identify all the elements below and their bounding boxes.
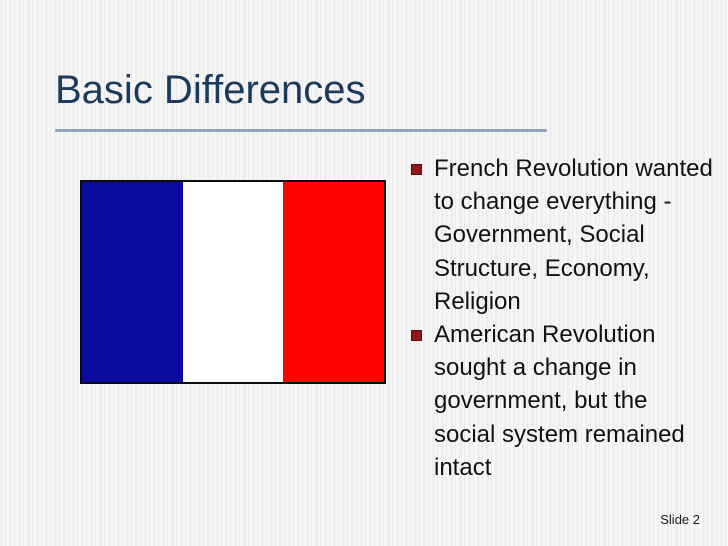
presentation-slide: Basic Differences French Revolution want… — [0, 0, 728, 546]
list-item-text: French Revolution wanted to change every… — [434, 155, 713, 315]
page-title: Basic Differences — [55, 66, 655, 114]
title-block: Basic Differences — [55, 66, 655, 114]
flag-band-blue — [82, 182, 183, 382]
title-divider — [55, 129, 547, 132]
flag-band-red — [283, 182, 384, 382]
list-item: French Revolution wanted to change every… — [409, 152, 714, 318]
bullet-list: French Revolution wanted to change every… — [409, 152, 714, 484]
french-flag-image — [80, 180, 386, 384]
list-item: American Revolution sought a change in g… — [409, 318, 714, 484]
flag-graphic — [80, 180, 386, 384]
slide-number: Slide 2 — [660, 512, 700, 528]
square-bullet-icon — [411, 164, 422, 175]
list-item-text: American Revolution sought a change in g… — [434, 321, 685, 481]
flag-band-white — [183, 182, 284, 382]
square-bullet-icon — [411, 330, 422, 341]
